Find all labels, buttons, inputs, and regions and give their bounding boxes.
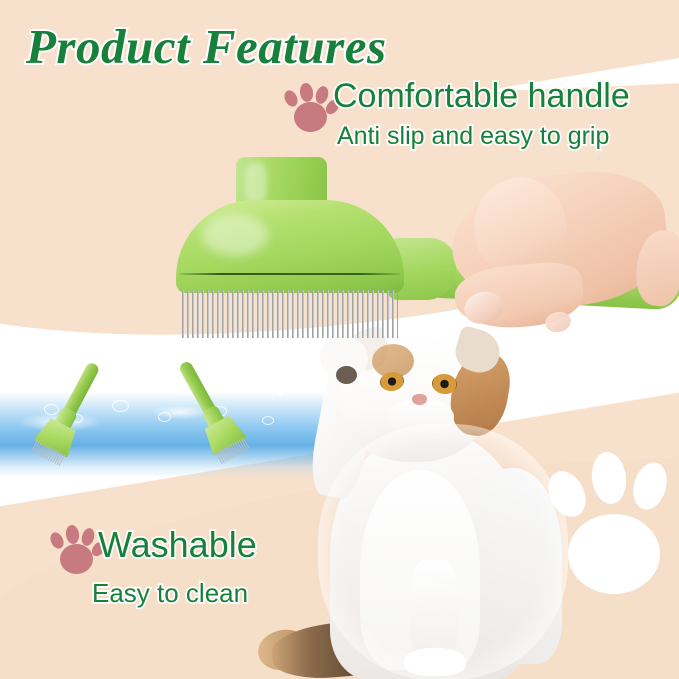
infographic-canvas: Product Features Comfortable handle Anti… (0, 0, 679, 679)
feature-headline-comfortable-handle: Comfortable handle (333, 77, 630, 116)
water-bubble (262, 416, 274, 425)
water-bubble (112, 400, 129, 412)
feature-headline-washable: Washable (98, 524, 257, 566)
water-droplet (278, 392, 282, 396)
water-droplet (232, 386, 237, 391)
feature-subtext-washable: Easy to clean (92, 578, 248, 609)
feature-subtext-comfortable-handle: Anti slip and easy to grip (337, 122, 609, 151)
water-bubble (158, 412, 171, 422)
paw-icon-comfortable-handle (282, 80, 338, 134)
comb-teeth (182, 290, 398, 338)
comb-head (176, 200, 404, 293)
paw-icon-washable (48, 522, 104, 576)
water-droplet (140, 382, 146, 388)
page-title: Product Features (26, 18, 387, 75)
